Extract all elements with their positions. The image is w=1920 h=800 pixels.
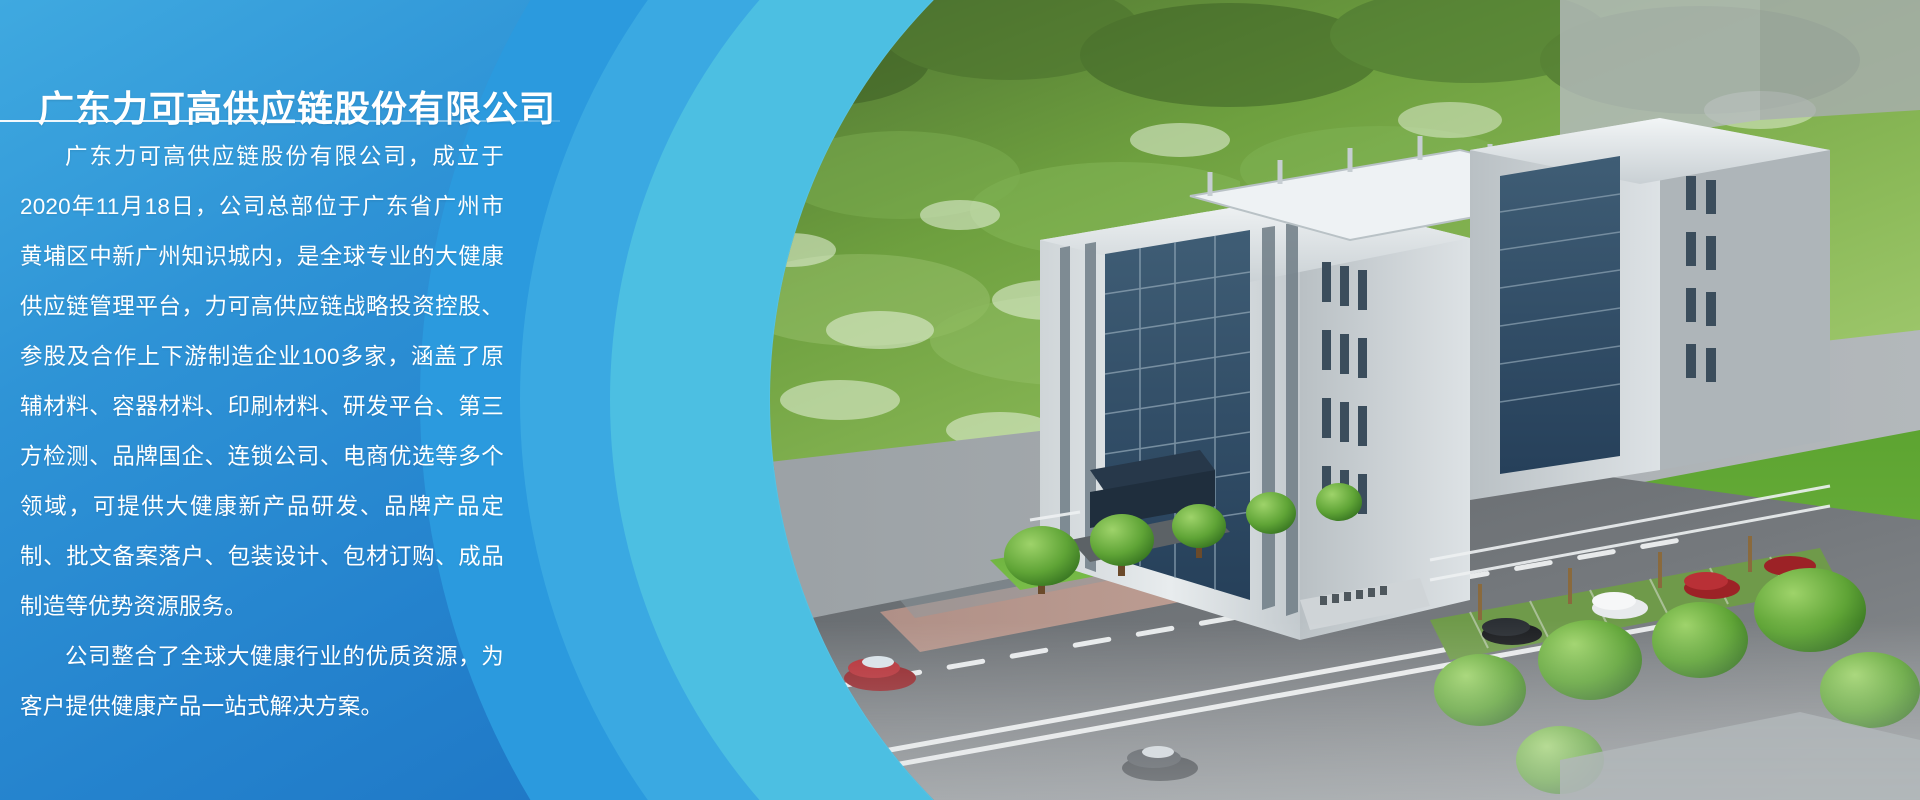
intro-text-column: 广东力可高供应链股份有限公司 广东力可高供应链股份有限公司，成立于2020年11… (0, 0, 560, 800)
banner-stage: 广东力可高供应链股份有限公司 广东力可高供应链股份有限公司，成立于2020年11… (0, 0, 1920, 800)
description-paragraph-2: 公司整合了全球大健康行业的优质资源，为客户提供健康产品一站式解决方案。 (20, 632, 504, 732)
campus-photo-bleed (1240, 0, 1920, 800)
campus-photo-bleed-artwork (1240, 0, 1920, 800)
description-paragraph-1: 广东力可高供应链股份有限公司，成立于2020年11月18日，公司总部位于广东省广… (20, 132, 504, 632)
title-divider (0, 120, 560, 122)
page-title: 广东力可高供应链股份有限公司 (38, 80, 556, 132)
company-description: 广东力可高供应链股份有限公司，成立于2020年11月18日，公司总部位于广东省广… (20, 132, 504, 732)
